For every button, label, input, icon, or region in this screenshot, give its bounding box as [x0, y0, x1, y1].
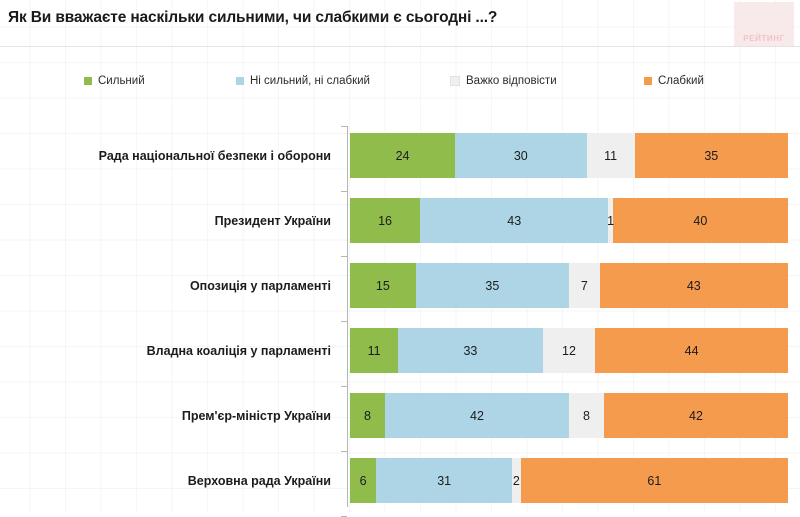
bar-value-label: 40	[693, 214, 707, 228]
legend-swatch-icon	[644, 77, 652, 85]
category-label: Рада національної безпеки і оборони	[0, 133, 335, 178]
category-label: Верховна рада України	[0, 458, 335, 503]
plot-area: Рада національної безпеки і оборони24301…	[0, 120, 800, 513]
chart-row: Опозиція у парламенті1535743	[0, 263, 800, 308]
axis-tick	[341, 126, 347, 127]
stacked-bar: 842842	[350, 393, 788, 438]
axis-tick	[341, 451, 347, 452]
legend-item-0[interactable]: Сильний	[84, 73, 145, 89]
axis-tick	[341, 256, 347, 257]
bar-value-label: 16	[378, 214, 392, 228]
axis-tick	[341, 386, 347, 387]
bar-value-label: 43	[687, 279, 701, 293]
bar-segment-2[interactable]: 8	[569, 393, 604, 438]
bar-segment-3[interactable]: 40	[613, 198, 788, 243]
category-label: Президент України	[0, 198, 335, 243]
bar-segment-0[interactable]: 15	[350, 263, 416, 308]
bar-segment-1[interactable]: 35	[416, 263, 569, 308]
bar-value-label: 43	[507, 214, 521, 228]
title-divider	[0, 46, 800, 47]
bar-value-label: 11	[368, 344, 381, 358]
legend-swatch-icon	[236, 77, 244, 85]
bar-value-label: 6	[360, 474, 367, 488]
bar-value-label: 42	[689, 409, 703, 423]
bar-segment-3[interactable]: 61	[521, 458, 788, 503]
category-label: Прем'єр-міністр України	[0, 393, 335, 438]
category-label: Опозиція у парламенті	[0, 263, 335, 308]
chart-legend: СильнийНі сильний, ні слабкийВажко відпо…	[84, 73, 784, 89]
legend-label: Важко відповісти	[466, 75, 557, 87]
bar-segment-3[interactable]: 43	[600, 263, 788, 308]
bar-segment-2[interactable]: 2	[512, 458, 521, 503]
stacked-bar: 11331244	[350, 328, 788, 373]
bar-value-label: 42	[470, 409, 484, 423]
bar-value-label: 24	[396, 149, 410, 163]
chart-row: Президент України1643140	[0, 198, 800, 243]
bar-value-label: 8	[364, 409, 371, 423]
legend-swatch-icon	[450, 76, 460, 86]
bar-value-label: 1	[607, 214, 614, 228]
bar-value-label: 35	[704, 149, 718, 163]
bar-segment-2[interactable]: 11	[587, 133, 635, 178]
category-axis-line	[347, 126, 348, 507]
bar-value-label: 31	[437, 474, 451, 488]
bar-value-label: 7	[581, 279, 588, 293]
bar-segment-1[interactable]: 33	[398, 328, 543, 373]
stacked-bar: 1643140	[350, 198, 788, 243]
bar-segment-3[interactable]: 44	[595, 328, 788, 373]
chart-row: Рада національної безпеки і оборони24301…	[0, 133, 800, 178]
chart-container: Як Ви вважаєте наскільки сильними, чи сл…	[0, 0, 800, 513]
axis-tick	[341, 191, 347, 192]
bar-value-label: 61	[647, 474, 661, 488]
bar-segment-3[interactable]: 35	[635, 133, 788, 178]
legend-item-2[interactable]: Важко відповісти	[450, 73, 557, 89]
bar-segment-2[interactable]: 12	[543, 328, 596, 373]
axis-tick	[341, 321, 347, 322]
bar-segment-1[interactable]: 42	[385, 393, 569, 438]
page-title: Як Ви вважаєте наскільки сильними, чи сл…	[8, 8, 728, 28]
bar-segment-0[interactable]: 24	[350, 133, 455, 178]
legend-label: Слабкий	[658, 75, 704, 87]
bar-segment-1[interactable]: 31	[376, 458, 512, 503]
bar-segment-0[interactable]: 11	[350, 328, 398, 373]
bar-segment-0[interactable]: 6	[350, 458, 376, 503]
bar-segment-1[interactable]: 43	[420, 198, 608, 243]
bar-value-label: 35	[485, 279, 499, 293]
bar-value-label: 30	[514, 149, 528, 163]
legend-label: Сильний	[98, 75, 145, 87]
bar-value-label: 15	[376, 279, 390, 293]
chart-row: Владна коаліція у парламенті11331244	[0, 328, 800, 373]
bar-value-label: 33	[463, 344, 477, 358]
legend-swatch-icon	[84, 77, 92, 85]
bar-segment-0[interactable]: 16	[350, 198, 420, 243]
bar-value-label: 11	[604, 149, 617, 163]
bar-value-label: 12	[562, 344, 576, 358]
legend-item-3[interactable]: Слабкий	[644, 73, 704, 89]
legend-item-1[interactable]: Ні сильний, ні слабкий	[236, 73, 370, 89]
bar-segment-2[interactable]: 7	[569, 263, 600, 308]
chart-row: Прем'єр-міністр України842842	[0, 393, 800, 438]
stacked-bar: 24301135	[350, 133, 788, 178]
bar-value-label: 2	[513, 474, 520, 488]
stacked-bar: 1535743	[350, 263, 788, 308]
stacked-bar: 631261	[350, 458, 788, 503]
bar-segment-0[interactable]: 8	[350, 393, 385, 438]
category-label: Владна коаліція у парламенті	[0, 328, 335, 373]
legend-label: Ні сильний, ні слабкий	[250, 75, 370, 87]
bar-segment-3[interactable]: 42	[604, 393, 788, 438]
bar-value-label: 44	[685, 344, 699, 358]
chart-row: Верховна рада України631261	[0, 458, 800, 503]
bar-value-label: 8	[583, 409, 590, 423]
bar-segment-1[interactable]: 30	[455, 133, 586, 178]
